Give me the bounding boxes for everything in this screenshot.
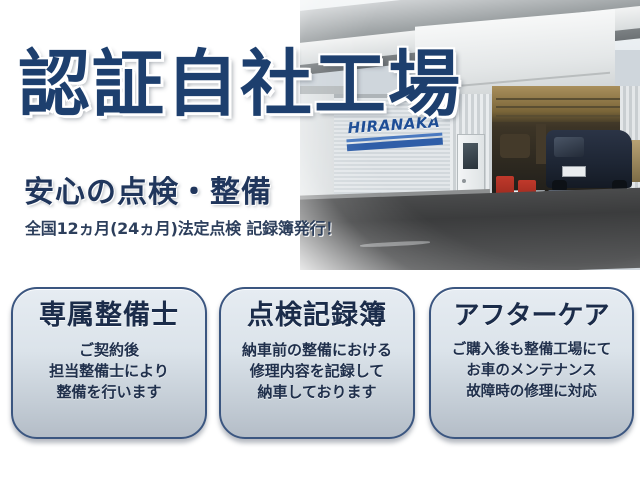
feature-body-line: 整備を行います	[49, 382, 169, 403]
van-on-lift	[546, 130, 632, 188]
shop-equipment	[536, 124, 546, 164]
door-window	[463, 143, 478, 169]
photo-scene: HIRANAKA	[300, 0, 640, 270]
feature-body-line: 担当整備士により	[49, 361, 169, 382]
feature-body: ご契約後 担当整備士により 整備を行います	[49, 340, 169, 403]
door-knob	[462, 179, 466, 183]
van-license-plate	[562, 166, 586, 177]
ceiling-beam	[496, 115, 640, 117]
feature-body: ご購入後も整備工場にて お車のメンテナンス 故障時の修理に対応	[452, 340, 612, 403]
asphalt-ground	[300, 187, 640, 270]
feature-title: 点検記録簿	[247, 301, 387, 331]
feature-box-after-care: アフターケア ご購入後も整備工場にて お車のメンテナンス 故障時の修理に対応	[429, 287, 634, 439]
feature-body-line: 故障時の修理に対応	[452, 382, 612, 403]
feature-title: アフターケア	[453, 301, 609, 331]
feature-body: 納車前の整備における 修理内容を記録して 納車しております	[242, 340, 392, 403]
subhead-note: 全国12ヵ月(24ヵ月)法定点検 記録簿発行！	[25, 219, 341, 239]
feature-body-line: ご購入後も整備工場にて	[452, 340, 612, 361]
feature-body-line: 納車しております	[242, 382, 392, 403]
ceiling-beam	[496, 106, 640, 108]
feature-body-line: ご契約後	[49, 340, 169, 361]
van-window	[554, 137, 584, 157]
garage-photo: HIRANAKA	[300, 0, 640, 270]
promotional-banner: HIRANAKA	[0, 0, 640, 480]
shop-equipment	[500, 134, 530, 158]
feature-box-group: 専属整備士 ご契約後 担当整備士により 整備を行います 点検記録簿 納車前の整備…	[0, 287, 640, 447]
feature-body-line: 納車前の整備における	[242, 340, 392, 361]
subhead: 安心の点検・整備	[24, 176, 272, 210]
feature-body-line: お車のメンテナンス	[452, 361, 612, 382]
feature-box-inspection-record: 点検記録簿 納車前の整備における 修理内容を記録して 納車しております	[219, 287, 415, 439]
headline: 認証自社工場	[18, 48, 462, 120]
feature-body-line: 修理内容を記録して	[242, 361, 392, 382]
ceiling-beam	[496, 98, 640, 100]
feature-title: 専属整備士	[39, 301, 179, 331]
feature-box-dedicated-mechanic: 専属整備士 ご契約後 担当整備士により 整備を行います	[11, 287, 207, 439]
